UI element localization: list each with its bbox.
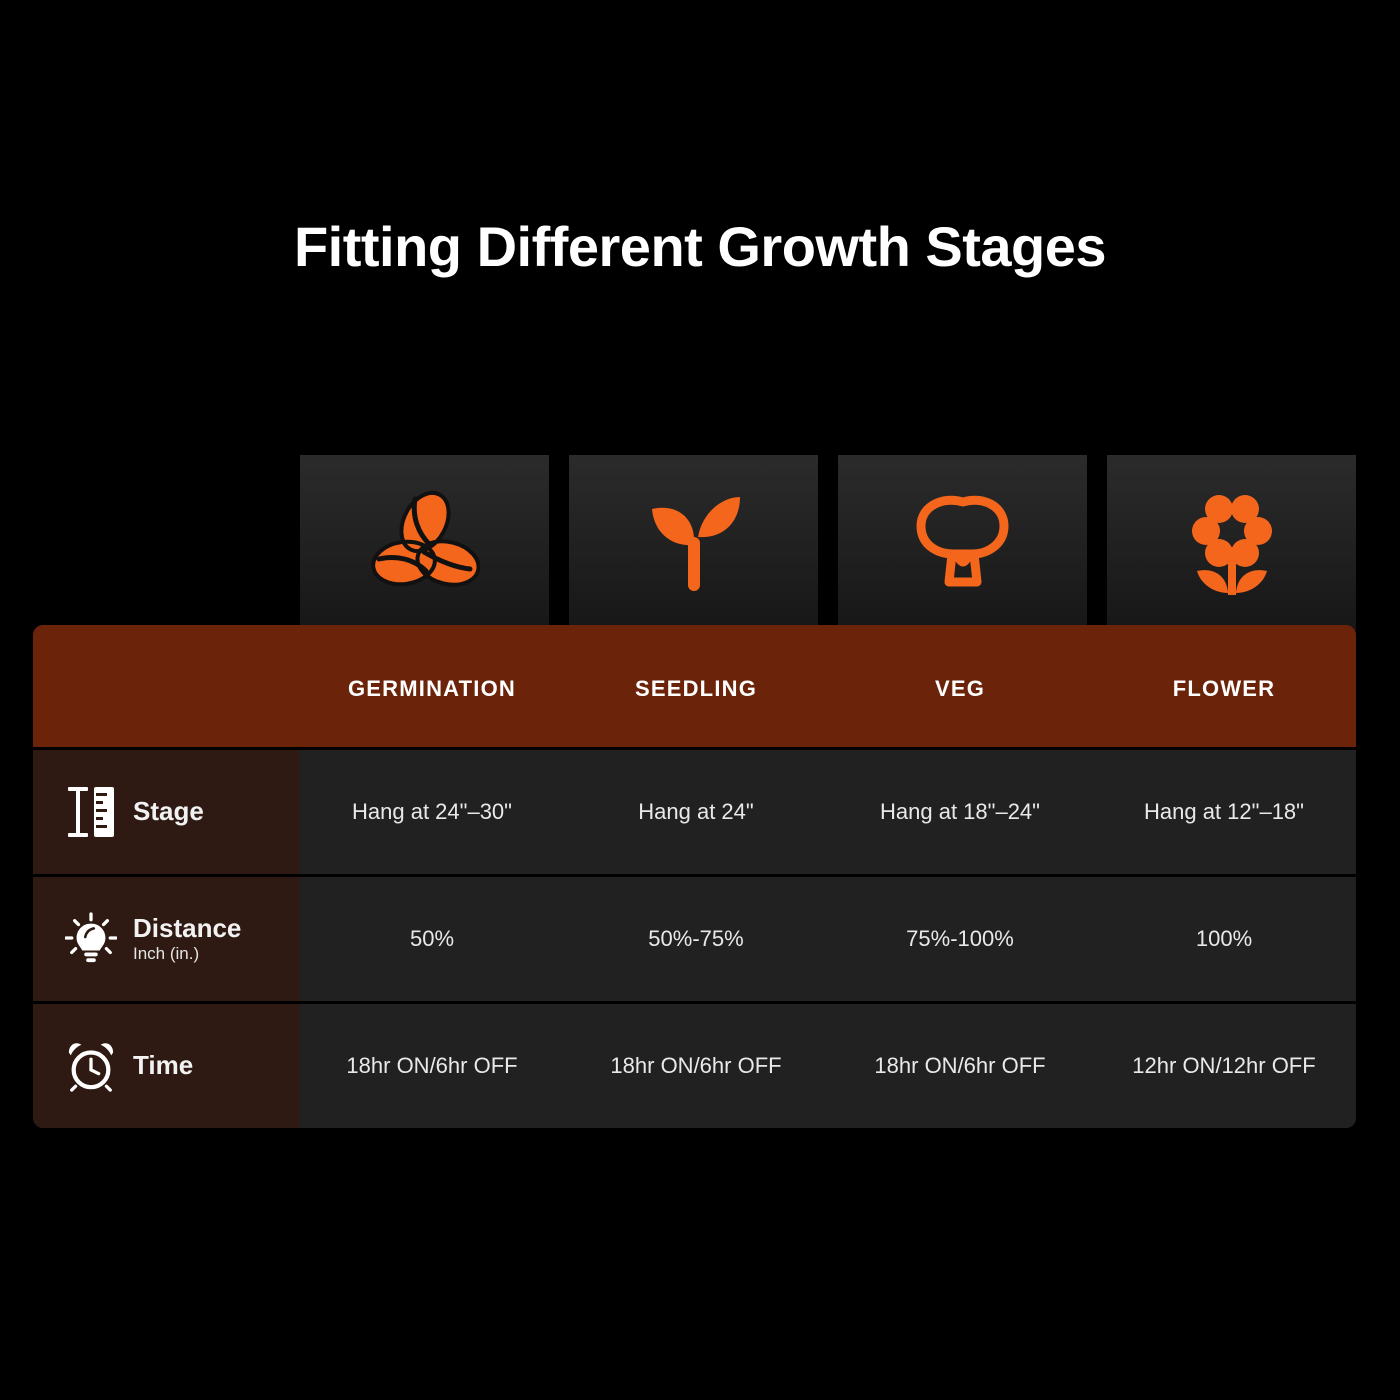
stage-tile-germination	[300, 455, 549, 630]
growth-stages-table: GERMINATION SEEDLING VEG FLOWER	[33, 625, 1356, 1128]
sprout-icon	[642, 487, 746, 599]
row-label-time: Time	[33, 1004, 300, 1128]
row-label-text: Time	[133, 1051, 193, 1080]
stage-icon-strip	[300, 455, 1356, 630]
broccoli-icon	[908, 488, 1018, 598]
column-header-veg: VEG	[828, 625, 1092, 747]
cell-time-seedling: 18hr ON/6hr OFF	[564, 1004, 828, 1128]
cell-stage-seedling: Hang at 24"	[564, 750, 828, 874]
ruler-height-icon	[65, 785, 117, 839]
cell-distance-seedling: 50%-75%	[564, 877, 828, 1001]
alarm-clock-icon	[65, 1039, 117, 1093]
cell-time-flower: 12hr ON/12hr OFF	[1092, 1004, 1356, 1128]
cell-distance-veg: 75%-100%	[828, 877, 1092, 1001]
stage-tile-seedling	[569, 455, 818, 630]
table-row: Time 18hr ON/6hr OFF 18hr ON/6hr OFF 18h…	[33, 1001, 1356, 1128]
stage-tile-flower	[1107, 455, 1356, 630]
row-label-stage: Stage	[33, 750, 300, 874]
row-label-distance: Distance Inch (in.)	[33, 877, 300, 1001]
column-header-flower: FLOWER	[1092, 625, 1356, 747]
table-row: Distance Inch (in.) 50% 50%-75% 75%-100%…	[33, 874, 1356, 1001]
row-label-text: Distance	[133, 914, 241, 943]
cell-stage-veg: Hang at 18"–24"	[828, 750, 1092, 874]
row-sublabel-text: Inch (in.)	[133, 944, 241, 964]
table-header-row: GERMINATION SEEDLING VEG FLOWER	[33, 625, 1356, 747]
flower-icon	[1179, 487, 1285, 599]
cell-stage-germination: Hang at 24"–30"	[300, 750, 564, 874]
stage-tile-veg	[838, 455, 1087, 630]
cell-distance-flower: 100%	[1092, 877, 1356, 1001]
column-header-seedling: SEEDLING	[564, 625, 828, 747]
cell-stage-flower: Hang at 12"–18"	[1092, 750, 1356, 874]
row-label-text: Stage	[133, 797, 204, 826]
seeds-icon	[370, 489, 480, 597]
lightbulb-icon	[65, 912, 117, 966]
table-header-corner	[33, 625, 300, 747]
table-row: Stage Hang at 24"–30" Hang at 24" Hang a…	[33, 747, 1356, 874]
cell-distance-germination: 50%	[300, 877, 564, 1001]
cell-time-veg: 18hr ON/6hr OFF	[828, 1004, 1092, 1128]
column-header-germination: GERMINATION	[300, 625, 564, 747]
page-title: Fitting Different Growth Stages	[0, 216, 1400, 278]
cell-time-germination: 18hr ON/6hr OFF	[300, 1004, 564, 1128]
